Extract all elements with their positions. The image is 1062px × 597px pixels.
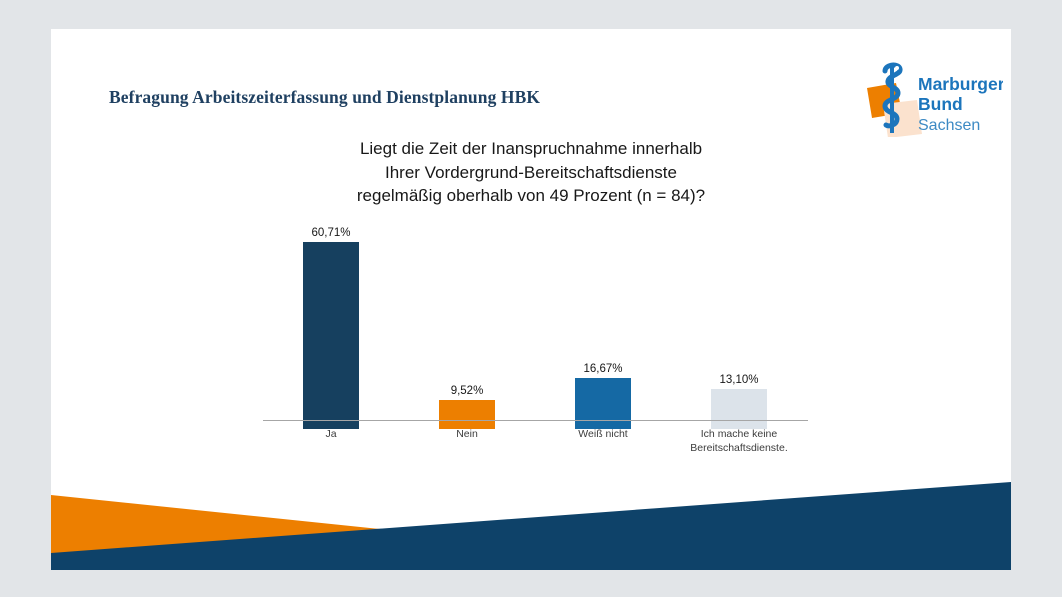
bar-weiss-nicht (575, 378, 631, 429)
bar-value-keine-bereitschaftsdienste: 13,10% (719, 374, 758, 386)
chart-title-line-1: Liegt die Zeit der Inanspruchnahme inner… (231, 137, 831, 161)
bar-value-weiss-nicht: 16,67% (583, 363, 622, 375)
bar-slot-ja: 60,71% (263, 229, 399, 429)
bar-slot-keine-bereitschaftsdienste: 13,10% (671, 229, 807, 429)
chart-title-line-2: Ihrer Vordergrund-Bereitschaftsdienste (231, 161, 831, 185)
x-axis-label-ja-line-1: Ja (256, 427, 406, 441)
x-axis-label-keine-bereitschaftsdienste: Ich mache keine Bereitschaftsdienste. (664, 427, 814, 455)
x-axis-label-weiss-nicht-line-1: Weiß nicht (528, 427, 678, 441)
bar-chart: Liegt die Zeit der Inanspruchnahme inner… (51, 29, 1011, 489)
bar-value-ja: 60,71% (311, 227, 350, 239)
x-axis-label-weiss-nicht: Weiß nicht (528, 427, 678, 441)
footer-decoration (51, 460, 1011, 570)
plot-area: 60,71% 9,52% 16,67% 13,10% (263, 229, 819, 429)
bar-keine-bereitschaftsdienste (711, 389, 767, 429)
bar-nein (439, 400, 495, 429)
chart-title: Liegt die Zeit der Inanspruchnahme inner… (231, 137, 831, 208)
chart-title-line-3: regelmäßig oberhalb von 49 Prozent (n = … (231, 184, 831, 208)
x-axis-label-keine-bereitschaftsdienste-line-1: Ich mache keine (664, 427, 814, 441)
x-axis-label-nein-line-1: Nein (392, 427, 542, 441)
x-axis-line (263, 420, 808, 421)
bar-ja (303, 242, 359, 429)
bar-slot-nein: 9,52% (399, 229, 535, 429)
x-axis-label-nein: Nein (392, 427, 542, 441)
bar-value-nein: 9,52% (451, 385, 484, 397)
x-axis-label-ja: Ja (256, 427, 406, 441)
x-axis-label-keine-bereitschaftsdienste-line-2: Bereitschaftsdienste. (664, 441, 814, 455)
slide-canvas: Befragung Arbeitszeiterfassung und Diens… (51, 29, 1011, 570)
bar-slot-weiss-nicht: 16,67% (535, 229, 671, 429)
